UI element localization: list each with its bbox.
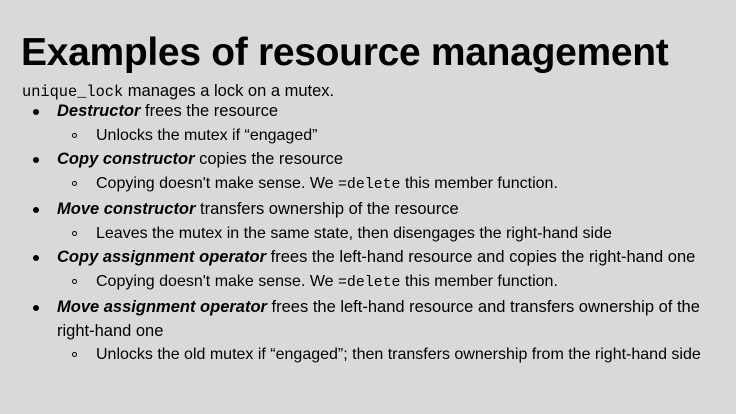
disc-bullet-icon: [33, 305, 39, 311]
list-item: Copy constructor copies the resource Cop…: [22, 148, 722, 197]
disc-bullet-icon: [33, 207, 39, 213]
circle-bullet-icon: [72, 279, 77, 284]
list-item: Copy assignment operator frees the left-…: [22, 246, 722, 295]
bullet-text: transfers ownership of the resource: [195, 200, 458, 218]
inline-code-delete: =delete: [338, 177, 401, 193]
inline-code-delete: =delete: [338, 275, 401, 291]
bullet-text: frees the left-hand resource and copies …: [266, 248, 695, 266]
sub-bullet-list: Unlocks the mutex if “engaged”: [57, 124, 722, 148]
list-item: Move assignment operator frees the left-…: [22, 296, 722, 367]
bullet-lead-term: Move constructor: [57, 200, 195, 218]
circle-bullet-icon: [72, 352, 77, 357]
bullet-lead-term: Copy assignment operator: [57, 248, 266, 266]
sub-bullet-text: Unlocks the mutex if “engaged”: [96, 127, 317, 144]
sub-bullet-text: Unlocks the old mutex if “engaged”; then…: [96, 346, 701, 363]
sub-bullet-text-post: this member function.: [401, 175, 558, 192]
sub-bullet-list: Unlocks the old mutex if “engaged”; then…: [57, 343, 722, 367]
circle-bullet-icon: [72, 231, 77, 236]
bullet-list: Destructor frees the resource Unlocks th…: [22, 100, 722, 368]
disc-bullet-icon: [33, 255, 39, 261]
circle-bullet-icon: [72, 181, 77, 186]
sub-bullet-text: Leaves the mutex in the same state, then…: [96, 225, 612, 242]
disc-bullet-icon: [33, 109, 39, 115]
sub-bullet-text-pre: Copying doesn't make sense. We: [96, 175, 338, 192]
sub-bullet-list: Leaves the mutex in the same state, then…: [57, 222, 722, 246]
inline-code-unique-lock: unique_lock: [22, 83, 123, 101]
sub-list-item: Copying doesn't make sense. We =delete t…: [57, 270, 722, 296]
disc-bullet-icon: [33, 157, 39, 163]
sub-bullet-list: Copying doesn't make sense. We =delete t…: [57, 172, 722, 198]
page-title: Examples of resource management: [21, 30, 721, 76]
bullet-text: copies the resource: [195, 150, 344, 168]
bullet-lead-term: Move assignment operator: [57, 298, 267, 316]
list-item: Move constructor transfers ownership of …: [22, 198, 722, 245]
sub-list-item: Leaves the mutex in the same state, then…: [57, 222, 722, 246]
sub-bullet-text-post: this member function.: [401, 273, 558, 290]
slide-canvas: Examples of resource management unique_l…: [0, 0, 736, 414]
bullet-lead-term: Copy constructor: [57, 150, 195, 168]
sub-list-item: Unlocks the mutex if “engaged”: [57, 124, 722, 148]
sub-list-item: Copying doesn't make sense. We =delete t…: [57, 172, 722, 198]
sub-list-item: Unlocks the old mutex if “engaged”; then…: [57, 343, 722, 367]
circle-bullet-icon: [72, 133, 77, 138]
sub-bullet-text-pre: Copying doesn't make sense. We: [96, 273, 338, 290]
sub-bullet-list: Copying doesn't make sense. We =delete t…: [57, 270, 722, 296]
slide-subtitle-text: manages a lock on a mutex.: [123, 82, 334, 100]
bullet-lead-term: Destructor: [57, 102, 140, 120]
bullet-text: frees the resource: [140, 102, 278, 120]
list-item: Destructor frees the resource Unlocks th…: [22, 100, 722, 147]
